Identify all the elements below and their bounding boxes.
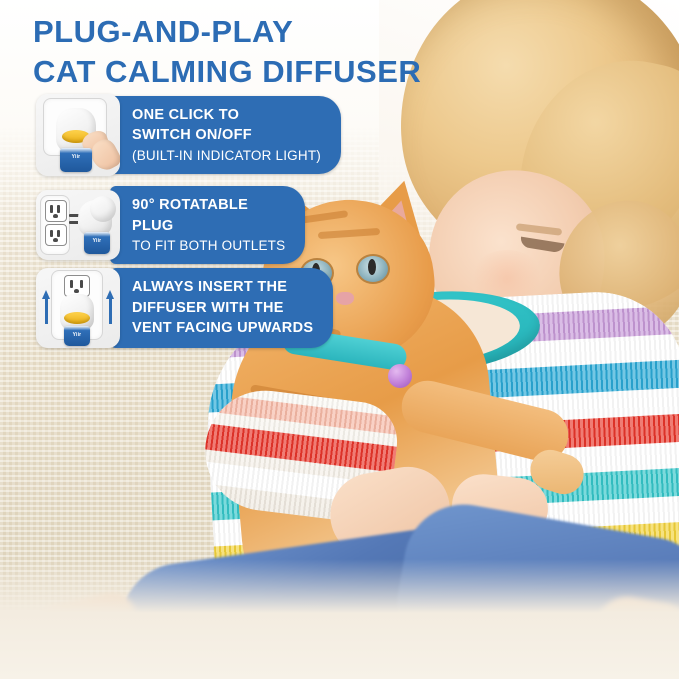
feature-line-2: DIFFUSER WITH THE — [132, 298, 313, 319]
bottle-label: Yiir — [64, 332, 90, 338]
feature-banner-one-click: ONE CLICK TO SWITCH ON/OFF (BUILT-IN IND… — [110, 96, 341, 174]
headline-line-1: PLUG-AND-PLAY — [33, 12, 503, 52]
headline-line-2: CAT CALMING DIFFUSER — [33, 52, 503, 92]
feature-line-3: VENT FACING UPWARDS — [132, 318, 313, 339]
rotatable-plug-outlets-icon: Yiir — [36, 190, 120, 260]
kitten-pupil-right — [368, 259, 376, 275]
product-infographic: PLUG-AND-PLAY CAT CALMING DIFFUSER Yiir … — [0, 0, 679, 679]
feature-rotatable-plug: Yiir 90° ROTATABLE PLUG TO FIT BOTH OUTL… — [36, 186, 305, 264]
feature-banner-vent-up: ALWAYS INSERT THE DIFFUSER WITH THE VENT… — [110, 268, 333, 348]
feature-subtitle: TO FIT BOTH OUTLETS — [132, 236, 285, 255]
couch-foreground — [0, 559, 679, 679]
feature-line-1: ALWAYS INSERT THE — [132, 277, 313, 298]
feature-line-2: SWITCH ON/OFF — [132, 125, 321, 146]
diffuser-vent-up-arrows-icon: Yiir — [36, 268, 120, 348]
page-title: PLUG-AND-PLAY CAT CALMING DIFFUSER — [33, 12, 503, 91]
kitten-nose — [336, 292, 354, 305]
diffuser-press-button-icon: Yiir — [36, 94, 120, 176]
feature-vent-facing-upwards: Yiir ALWAYS INSERT THE DIFFUSER WITH THE… — [36, 268, 333, 348]
feature-banner-rotatable-plug: 90° ROTATABLE PLUG TO FIT BOTH OUTLETS — [110, 186, 305, 264]
bottle-label: Yiir — [60, 154, 92, 160]
kitten-collar-bell — [388, 364, 412, 388]
feature-subtitle: (BUILT-IN INDICATOR LIGHT) — [132, 146, 321, 165]
feature-one-click-switch: Yiir ONE CLICK TO SWITCH ON/OFF (BUILT-I… — [36, 94, 341, 176]
bottle-label: Yiir — [84, 238, 110, 244]
feature-line-1: ONE CLICK TO — [132, 105, 321, 126]
feature-line-2: PLUG — [132, 216, 285, 237]
feature-line-1: 90° ROTATABLE — [132, 195, 285, 216]
